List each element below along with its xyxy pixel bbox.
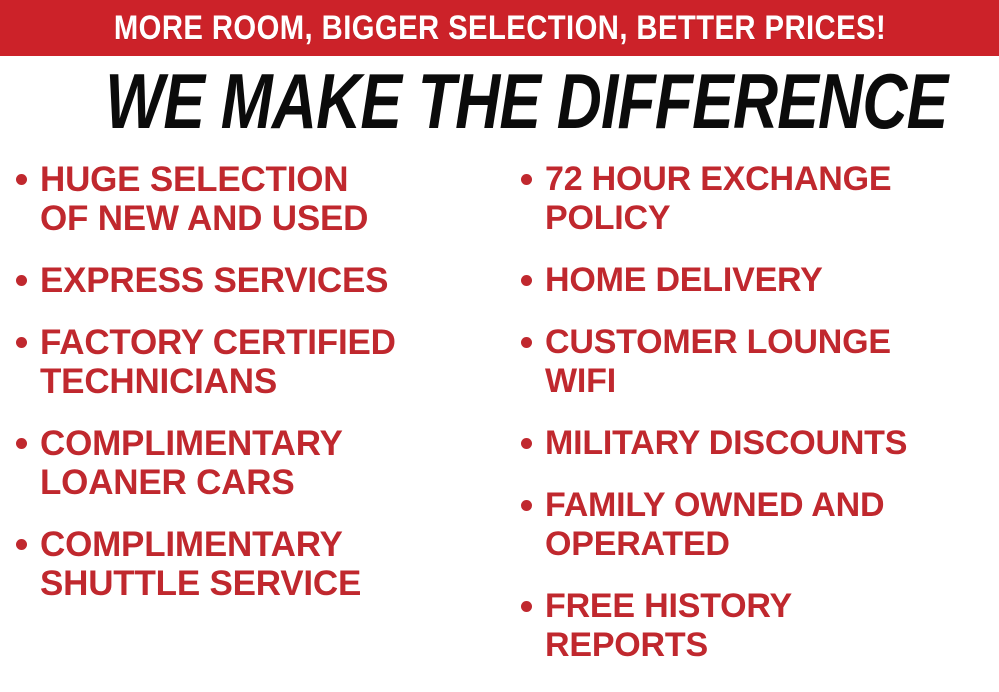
headline-container: WE MAKE THE DIFFERENCE bbox=[0, 62, 999, 140]
features-columns: HUGE SELECTION OF NEW AND USED EXPRESS S… bbox=[0, 160, 999, 692]
list-item-label: HUGE SELECTION OF NEW AND USED bbox=[40, 160, 368, 238]
bullet-dot-icon bbox=[16, 174, 27, 185]
top-banner-text: MORE ROOM, BIGGER SELECTION, BETTER PRIC… bbox=[113, 11, 885, 45]
list-item: CUSTOMER LOUNGE WIFI bbox=[521, 323, 999, 401]
features-column-left: HUGE SELECTION OF NEW AND USED EXPRESS S… bbox=[0, 160, 505, 692]
bullet-dot-icon bbox=[16, 539, 27, 550]
list-item: FAMILY OWNED AND OPERATED bbox=[521, 486, 999, 564]
bullet-dot-icon bbox=[521, 275, 532, 286]
list-item-label: FAMILY OWNED AND OPERATED bbox=[545, 486, 884, 564]
bullet-dot-icon bbox=[16, 275, 27, 286]
promo-poster: MORE ROOM, BIGGER SELECTION, BETTER PRIC… bbox=[0, 0, 999, 692]
list-item-label: HOME DELIVERY bbox=[545, 261, 823, 300]
bullet-dot-icon bbox=[521, 438, 532, 449]
bullet-dot-icon bbox=[521, 500, 532, 511]
list-item: COMPLIMENTARY SHUTTLE SERVICE bbox=[16, 525, 505, 603]
list-item-label: 72 HOUR EXCHANGE POLICY bbox=[545, 160, 891, 238]
bullet-dot-icon bbox=[16, 438, 27, 449]
page-title: WE MAKE THE DIFFERENCE bbox=[105, 62, 947, 140]
bullet-dot-icon bbox=[521, 337, 532, 348]
list-item-label: MILITARY DISCOUNTS bbox=[545, 424, 907, 463]
list-item-label: COMPLIMENTARY LOANER CARS bbox=[40, 424, 343, 502]
bullet-dot-icon bbox=[521, 601, 532, 612]
list-item-label: FACTORY CERTIFIED TECHNICIANS bbox=[40, 323, 396, 401]
list-item: FACTORY CERTIFIED TECHNICIANS bbox=[16, 323, 505, 401]
list-item: COMPLIMENTARY LOANER CARS bbox=[16, 424, 505, 502]
list-item: 72 HOUR EXCHANGE POLICY bbox=[521, 160, 999, 238]
list-item-label: CUSTOMER LOUNGE WIFI bbox=[545, 323, 891, 401]
list-item: HUGE SELECTION OF NEW AND USED bbox=[16, 160, 505, 238]
list-item-label: EXPRESS SERVICES bbox=[40, 261, 388, 300]
bullet-dot-icon bbox=[521, 174, 532, 185]
list-item: HOME DELIVERY bbox=[521, 261, 999, 300]
list-item: EXPRESS SERVICES bbox=[16, 261, 505, 300]
list-item: MILITARY DISCOUNTS bbox=[521, 424, 999, 463]
bullet-dot-icon bbox=[16, 337, 27, 348]
list-item-label: FREE HISTORY REPORTS bbox=[545, 587, 792, 665]
top-banner: MORE ROOM, BIGGER SELECTION, BETTER PRIC… bbox=[0, 0, 999, 56]
list-item: FREE HISTORY REPORTS bbox=[521, 587, 999, 665]
features-column-right: 72 HOUR EXCHANGE POLICY HOME DELIVERY CU… bbox=[505, 160, 999, 692]
list-item-label: COMPLIMENTARY SHUTTLE SERVICE bbox=[40, 525, 361, 603]
